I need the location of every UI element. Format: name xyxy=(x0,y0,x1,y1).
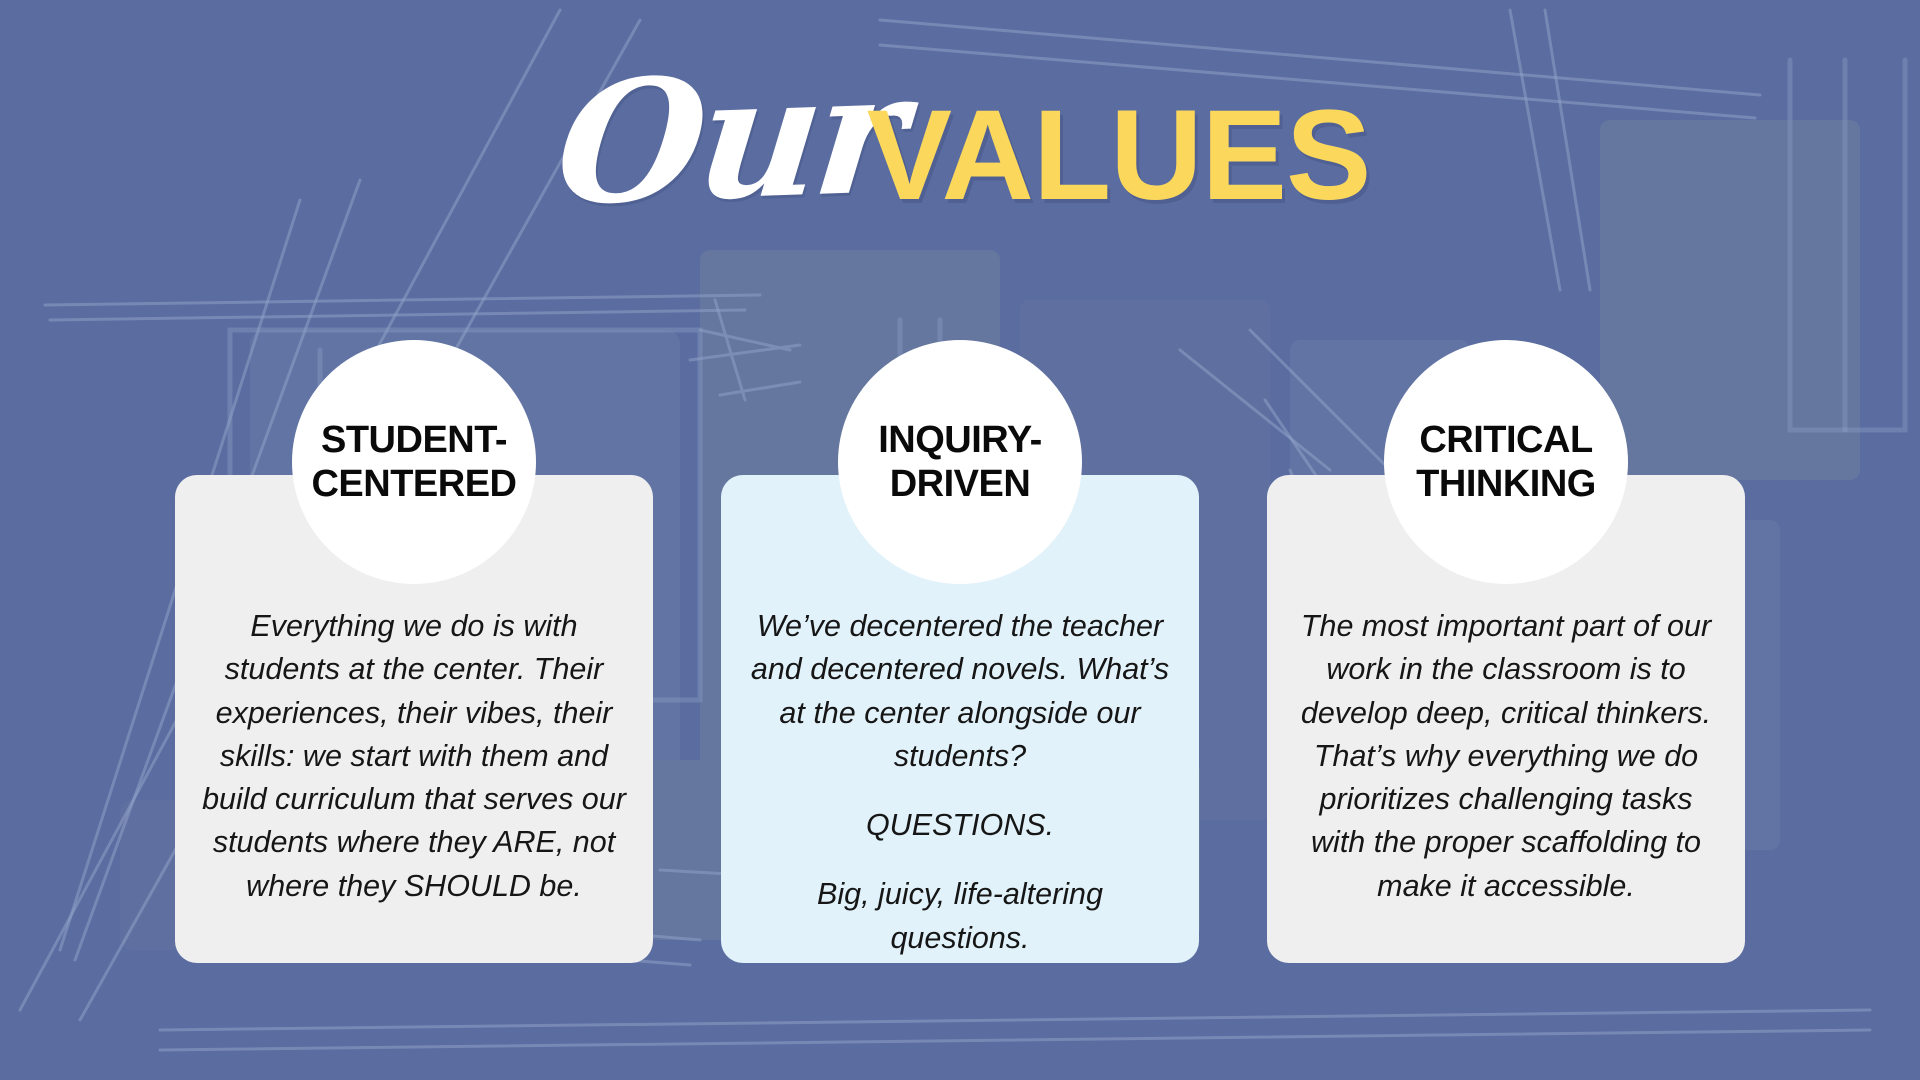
card-paragraph: Big, juicy, life-altering questions. xyxy=(747,873,1173,960)
page-title: OurVALUES xyxy=(0,60,1920,228)
card-paragraph: We’ve decentered the teacher and decente… xyxy=(747,605,1173,778)
values-slide: OurVALUES STUDENT-CENTERED Everything we… xyxy=(0,0,1920,1080)
card-body: We’ve decentered the teacher and decente… xyxy=(721,605,1199,960)
value-card-inquiry-driven: INQUIRY-DRIVEN We’ve decentered the teac… xyxy=(721,475,1199,963)
badge-label: INQUIRY-DRIVEN xyxy=(852,418,1068,506)
card-body: Everything we do is with students at the… xyxy=(175,605,653,908)
title-script-word: Our xyxy=(550,48,908,228)
card-paragraph: The most important part of our work in t… xyxy=(1293,605,1719,908)
value-card-student-centered: STUDENT-CENTERED Everything we do is wit… xyxy=(175,475,653,963)
badge-label: STUDENT-CENTERED xyxy=(306,418,522,506)
card-paragraph: QUESTIONS. xyxy=(747,804,1173,847)
card-body: The most important part of our work in t… xyxy=(1267,605,1745,908)
value-card-critical-thinking: CRITICAL THINKING The most important par… xyxy=(1267,475,1745,963)
values-card-row: STUDENT-CENTERED Everything we do is wit… xyxy=(0,340,1920,960)
badge-label: CRITICAL THINKING xyxy=(1398,418,1614,506)
title-bold-word: VALUES xyxy=(867,92,1371,220)
card-paragraph: Everything we do is with students at the… xyxy=(201,605,627,908)
badge-inquiry-driven: INQUIRY-DRIVEN xyxy=(838,340,1082,584)
badge-critical-thinking: CRITICAL THINKING xyxy=(1384,340,1628,584)
badge-student-centered: STUDENT-CENTERED xyxy=(292,340,536,584)
